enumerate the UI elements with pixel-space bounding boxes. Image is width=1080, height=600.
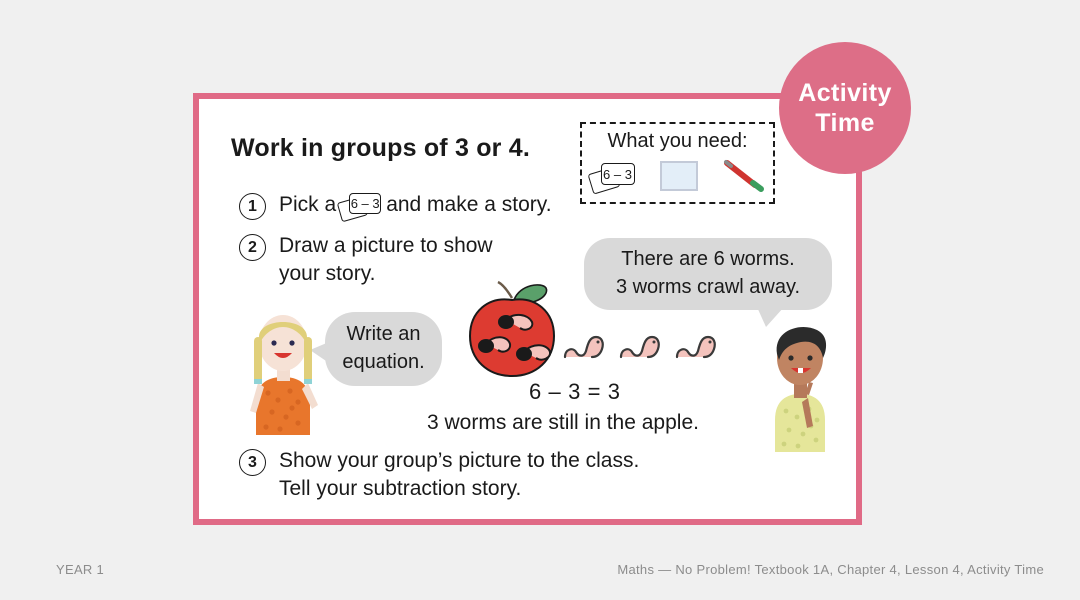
speech-bubble-boy: There are 6 worms. 3 worms crawl away. [584,238,832,310]
speech-bubble-girl: Write an equation. [325,312,442,386]
equation-text: 6 – 3 = 3 [529,379,621,405]
activity-time-badge: Activity Time [779,42,911,174]
worm-icon [562,331,606,363]
footer-source-label: Maths — No Problem! Textbook 1A, Chapter… [617,562,1044,577]
step-1-text-before: Pick a [279,193,336,216]
page-title: Work in groups of 3 or 4. [231,134,530,163]
girl-character [244,307,322,435]
worm-icon [618,331,662,363]
boy-character [761,316,839,452]
step-2: 2 Draw a picture to show your story. [239,232,493,288]
step-3-text: Show your group’s picture to the class. … [279,447,639,503]
number-cards-inline-icon: 6 – 3 [339,191,383,218]
step-2-text: Draw a picture to show your story. [279,232,493,288]
badge-line-1: Activity [798,78,892,109]
apple-illustration [462,276,562,381]
step-3: 3 Show your group’s picture to the class… [239,447,639,503]
activity-card-frame: Work in groups of 3 or 4. What you need:… [193,93,862,525]
step-3-number: 3 [239,449,266,476]
card-front-label: 6 – 3 [349,193,381,214]
step-1-number: 1 [239,193,266,220]
footer-year-label: YEAR 1 [56,562,104,577]
equation-caption: 3 worms are still in the apple. [427,411,699,435]
step-1-text: Pick a6 – 3and make a story. [279,191,552,219]
worm-icon [674,331,718,363]
what-you-need-items: 6 – 3 [582,159,773,193]
crawling-worms-row [562,331,718,363]
what-you-need-title: What you need: [582,130,773,153]
step-1: 1 Pick a6 – 3and make a story. [239,191,552,220]
card-front-label: 6 – 3 [601,163,635,185]
step-1-text-after: and make a story. [386,193,551,216]
what-you-need-box: What you need: 6 – 3 [580,122,775,204]
step-2-number: 2 [239,234,266,261]
paper-icon [660,161,698,191]
pencil-icon [722,159,766,193]
badge-line-2: Time [815,108,875,139]
number-cards-icon: 6 – 3 [590,161,636,191]
